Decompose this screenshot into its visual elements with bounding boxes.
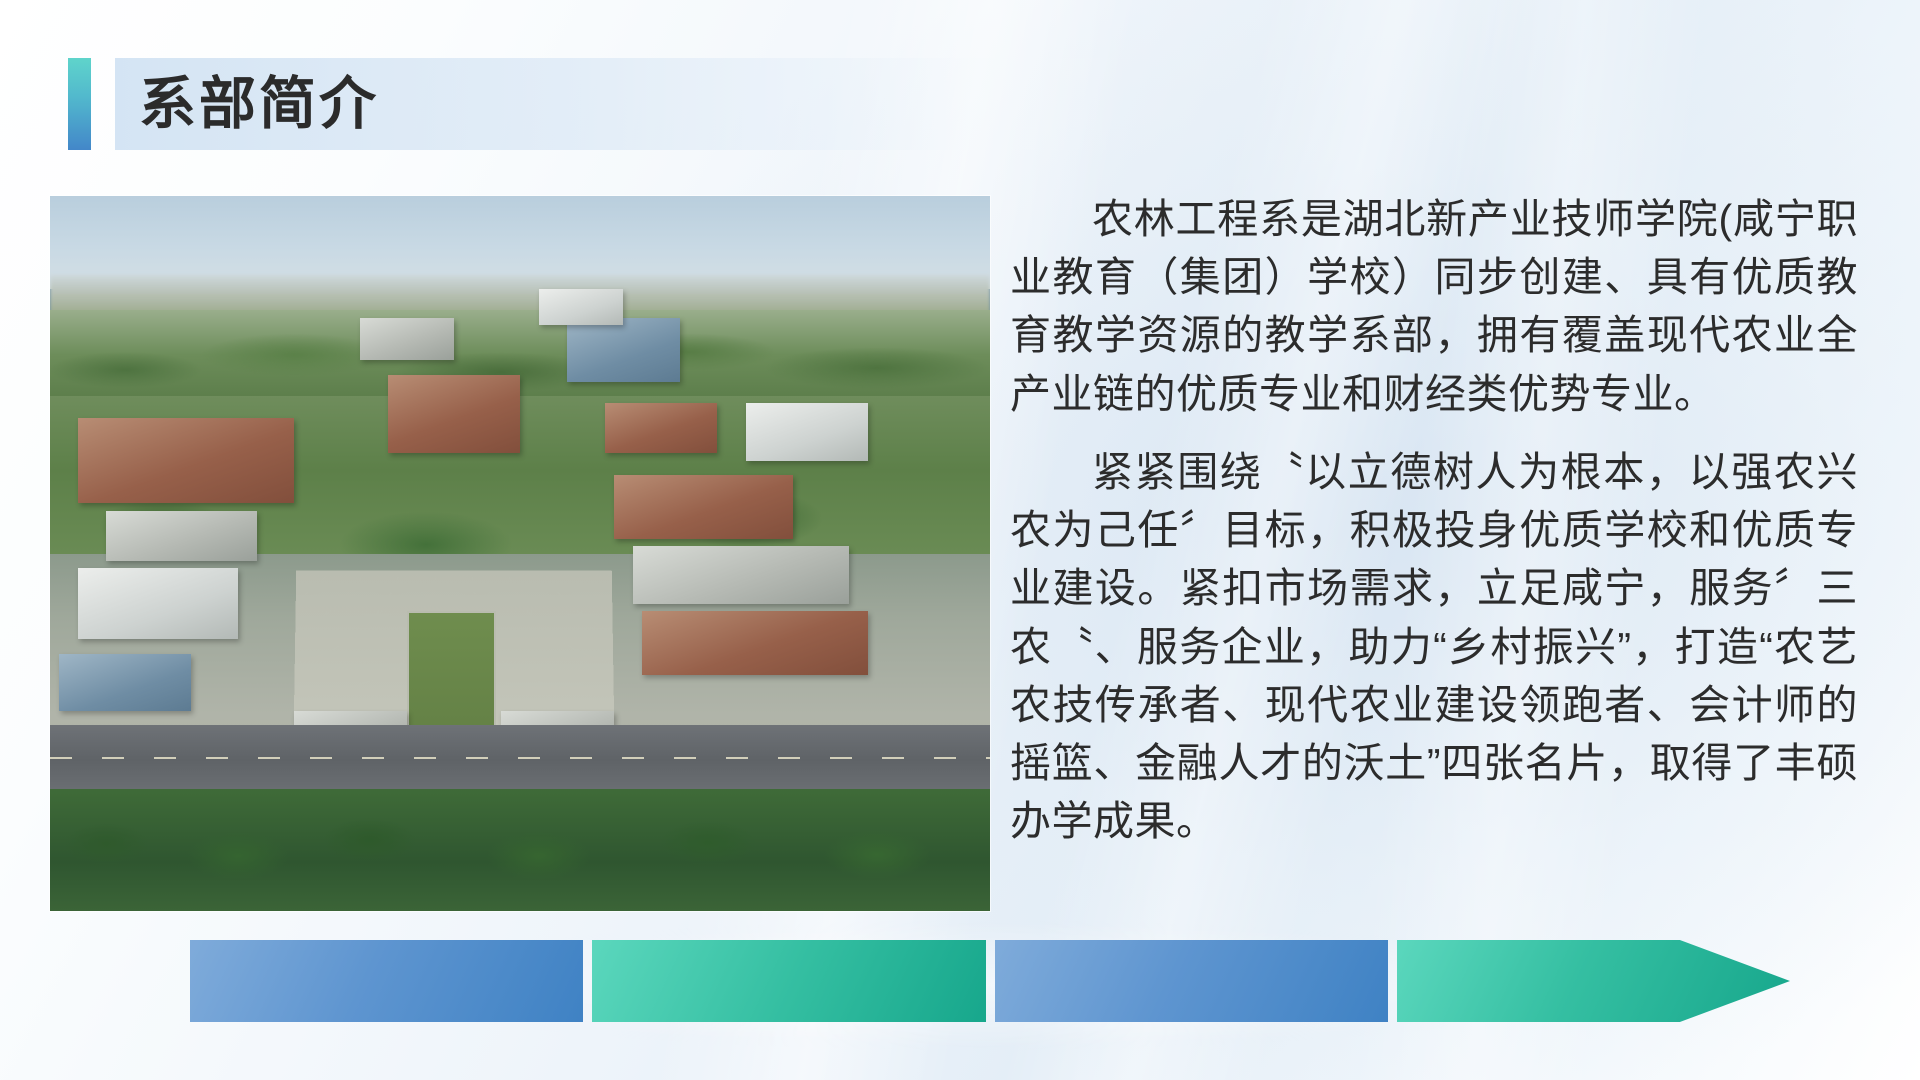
page-title: 系部简介 xyxy=(115,76,379,133)
body-text: 农林工程系是湖北新产业技师学院(咸宁职业教育（集团）学校）同步创建、具有优质教育… xyxy=(1010,190,1858,850)
photo-building xyxy=(388,375,520,454)
title-plate: 系部简介 xyxy=(115,58,1155,150)
ribbon-segment-2[interactable] xyxy=(592,940,985,1022)
photo-building xyxy=(78,568,238,640)
photo-building xyxy=(539,289,624,325)
photo-building xyxy=(106,511,256,561)
title-accent-bar xyxy=(68,58,91,150)
photo-canvas xyxy=(50,196,990,911)
photo-building xyxy=(614,475,793,539)
photo-building xyxy=(633,546,849,603)
campus-aerial-photo xyxy=(50,196,990,911)
photo-building xyxy=(567,318,680,382)
presentation-slide: 系部简介 xyxy=(0,0,1920,1080)
photo-building xyxy=(642,611,868,675)
photo-building xyxy=(78,418,294,504)
ribbon-segment-1[interactable] xyxy=(190,940,583,1022)
ribbon-segment-3[interactable] xyxy=(995,940,1388,1022)
photo-building xyxy=(605,403,718,453)
ribbon-segment-4-arrow[interactable] xyxy=(1397,940,1790,1022)
photo-foreground-trees xyxy=(50,789,990,911)
photo-road-marking xyxy=(50,757,990,759)
photo-building xyxy=(746,403,868,460)
photo-building xyxy=(59,654,191,711)
paragraph-2: 紧紧围绕〝以立德树人为根本，以强农兴农为己任〞目标，积极投身优质学校和优质专业建… xyxy=(1010,443,1858,851)
slide-title-block: 系部简介 xyxy=(68,58,1155,150)
bottom-chevron-ribbon xyxy=(190,940,1790,1022)
paragraph-1: 农林工程系是湖北新产业技师学院(咸宁职业教育（集团）学校）同步创建、具有优质教育… xyxy=(1010,190,1858,423)
photo-building xyxy=(360,318,454,361)
